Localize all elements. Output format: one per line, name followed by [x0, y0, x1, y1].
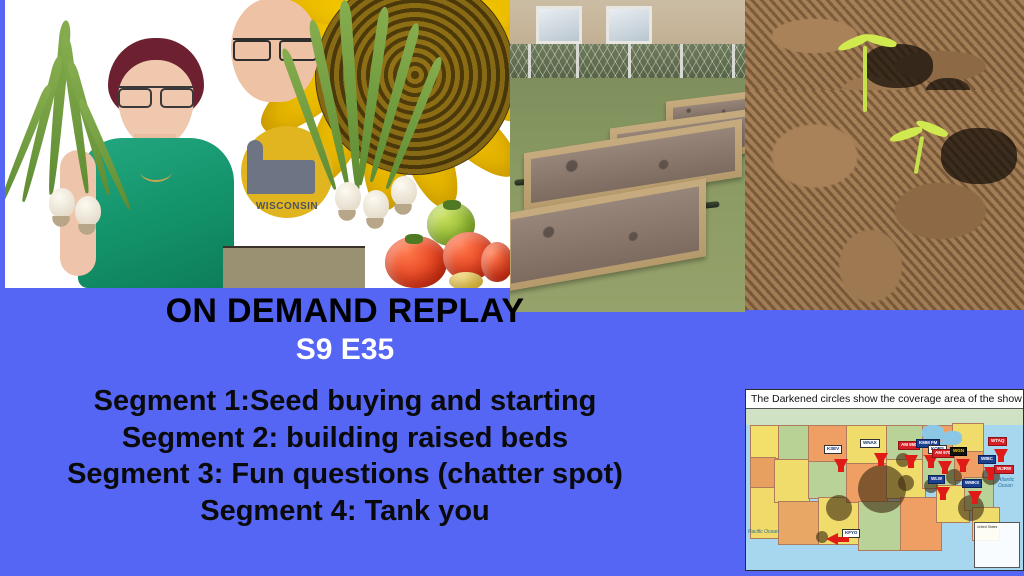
arrow-icon [826, 533, 838, 545]
arrow-icon [904, 455, 918, 468]
list-item: Segment 1:Seed buying and starting [0, 383, 690, 420]
arrow-icon [968, 491, 982, 504]
arrow-icon [834, 459, 848, 472]
list-item: Segment 3: Fun questions (chatter spot) [0, 456, 690, 493]
photo-wooden-raised-garden-beds [510, 0, 745, 312]
ocean-label-pacific: Pacific Ocean [748, 529, 779, 535]
map-caption: The Darkened circles show the coverage a… [746, 390, 1023, 409]
coverage-circle [826, 495, 852, 521]
arrow-icon [956, 459, 970, 472]
station-label: WMKS [962, 479, 982, 488]
station-label: WJRW [994, 465, 1014, 474]
arrow-icon [938, 461, 952, 474]
ocean-label-atlantic: Atlantic Ocean [998, 477, 1020, 489]
arrow-icon [936, 487, 950, 500]
map-legend: United States [974, 522, 1020, 568]
station-label: KSEV [824, 445, 842, 454]
seed-cell-hole [863, 44, 933, 88]
coverage-map-inset: The Darkened circles show the coverage a… [745, 389, 1024, 571]
photo-strip: WISCONSIN [0, 0, 1024, 320]
coverage-circle [898, 475, 914, 491]
usa-map: WNAX AM 950 KMM FM KQRS AM 970 WGN WTAQ … [746, 409, 1023, 571]
map-legend-title: United States [977, 525, 1017, 530]
arrow-icon [994, 449, 1008, 462]
station-label: WTAQ [988, 437, 1007, 446]
coverage-circle [858, 465, 906, 513]
photo-seedlings-sprouting-in-tray [745, 0, 1024, 310]
coco-coir-medium [745, 90, 1024, 310]
segment-list: Segment 1:Seed buying and starting Segme… [0, 383, 690, 529]
seed-cell-hole [941, 128, 1017, 184]
photo-couple-with-garlic-harvest: WISCONSIN [5, 0, 510, 288]
station-label: WLW [928, 475, 945, 484]
garlic-bundle-left [15, 20, 145, 270]
station-label: WIBC [978, 455, 996, 464]
tomatoes-group [385, 188, 510, 288]
list-item: Segment 4: Tank you [0, 493, 690, 530]
list-item: Segment 2: building raised beds [0, 420, 690, 457]
arrow-icon [874, 453, 888, 466]
station-label: WGN [950, 447, 967, 456]
page-title: ON DEMAND REPLAY [0, 288, 690, 331]
episode-subtitle: S9 E35 [0, 333, 690, 367]
station-label: WNAX [860, 439, 880, 448]
text-block: ON DEMAND REPLAY S9 E35 Segment 1:Seed b… [0, 288, 690, 529]
